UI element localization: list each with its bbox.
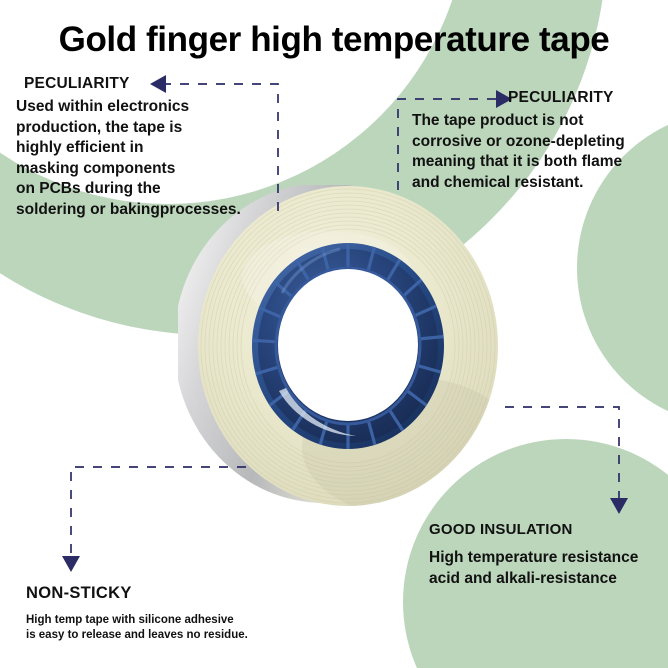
callout-left-line: on PCBs during the bbox=[16, 179, 241, 200]
connector-bottom-right bbox=[505, 407, 619, 500]
callout-right-line: and chemical resistant. bbox=[412, 173, 625, 194]
callout-left-line: production, the tape is bbox=[16, 118, 241, 139]
product-image-tape-roll bbox=[178, 185, 500, 510]
callout-right: PECULIARITY The tape product is not corr… bbox=[412, 88, 625, 193]
callout-bottom-left-line: High temp tape with silicone adhesive bbox=[26, 613, 248, 628]
callout-bottom-right: GOOD INSULATION High temperature resista… bbox=[429, 520, 638, 589]
callout-bottom-left-heading: NON-STICKY bbox=[26, 583, 248, 603]
callout-left-heading: PECULIARITY bbox=[16, 74, 241, 94]
tape-core-hole bbox=[278, 269, 418, 421]
callout-right-line: The tape product is not bbox=[412, 111, 625, 132]
callout-left-body: Used within electronics production, the … bbox=[16, 97, 241, 220]
callout-right-body: The tape product is not corrosive or ozo… bbox=[412, 111, 625, 193]
callout-right-heading: PECULIARITY bbox=[412, 88, 625, 108]
callout-bottom-right-heading: GOOD INSULATION bbox=[429, 520, 638, 540]
callout-bottom-left-line: is easy to release and leaves no residue… bbox=[26, 628, 248, 643]
callout-bottom-right-line: High temperature resistance bbox=[429, 548, 638, 569]
arrow-down-icon-right bbox=[610, 498, 628, 514]
callout-bottom-right-line: acid and alkali-resistance bbox=[429, 569, 638, 590]
callout-left-line: Used within electronics bbox=[16, 97, 241, 118]
callout-left-line: soldering or bakingprocesses. bbox=[16, 200, 241, 221]
callout-left: PECULIARITY Used within electronics prod… bbox=[16, 74, 241, 220]
callout-left-line: highly efficient in bbox=[16, 138, 241, 159]
callout-right-line: meaning that it is both flame bbox=[412, 152, 625, 173]
arrow-down-icon-left bbox=[62, 556, 80, 572]
callout-left-line: masking components bbox=[16, 159, 241, 180]
infographic-canvas: Gold finger high temperature tape PECULI… bbox=[0, 0, 668, 668]
callout-bottom-right-body: High temperature resistance acid and alk… bbox=[429, 548, 638, 589]
page-title: Gold finger high temperature tape bbox=[0, 18, 668, 62]
callout-right-line: corrosive or ozone-depleting bbox=[412, 132, 625, 153]
callout-bottom-left: NON-STICKY High temp tape with silicone … bbox=[26, 583, 248, 643]
callout-bottom-left-body: High temp tape with silicone adhesive is… bbox=[26, 613, 248, 643]
